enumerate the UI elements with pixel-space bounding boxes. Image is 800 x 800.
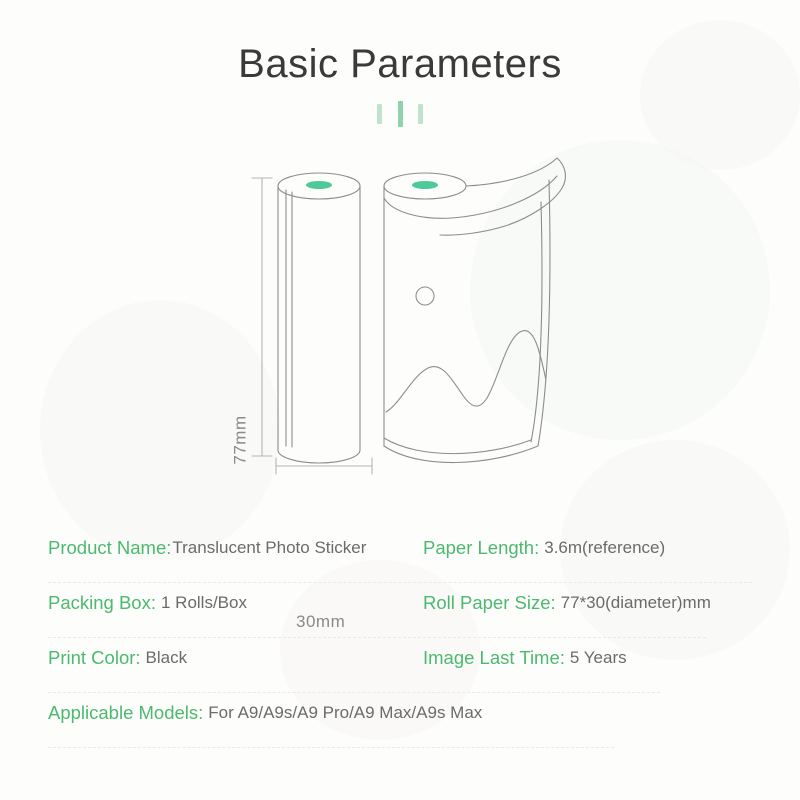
right-paper-roll (384, 158, 565, 463)
ornament-bar-center (398, 101, 403, 127)
ornament-bar-right (418, 104, 423, 124)
spec-row: Applicable Models: For A9/A9s/A9 Pro/A9 … (48, 693, 752, 748)
spec-label: Paper Length: (423, 537, 539, 559)
page-header: Basic Parameters (0, 0, 800, 127)
page-title: Basic Parameters (0, 0, 800, 87)
spec-label: Packing Box: (48, 592, 156, 614)
spec-label: Image Last Time: (423, 647, 565, 669)
spec-row: Print Color: Black Image Last Time: 5 Ye… (48, 638, 752, 693)
row-separator (48, 747, 614, 748)
spec-item-packing-box: Packing Box: 1 Rolls/Box (48, 583, 423, 623)
spec-value: 3.6m(reference) (544, 538, 665, 558)
spec-value: 5 Years (570, 648, 627, 668)
spec-row: Product Name: Translucent Photo Sticker … (48, 528, 752, 583)
height-dimension-label: 77mm (231, 415, 251, 464)
spec-label: Applicable Models: (48, 702, 203, 724)
spec-item-paper-length: Paper Length: 3.6m(reference) (423, 528, 752, 568)
spec-label: Roll Paper Size: (423, 592, 556, 614)
product-illustration: 77mm 30mm (0, 140, 800, 510)
left-paper-roll (278, 173, 360, 463)
spec-label: Print Color: (48, 647, 141, 669)
spec-label: Product Name: (48, 537, 171, 559)
spec-value: Black (146, 648, 188, 668)
spec-row: Packing Box: 1 Rolls/Box Roll Paper Size… (48, 583, 752, 638)
spec-item-image-last-time: Image Last Time: 5 Years (423, 638, 752, 678)
spec-value: For A9/A9s/A9 Pro/A9 Max/A9s Max (208, 703, 482, 723)
paper-rolls-drawing (0, 140, 800, 510)
spec-item-roll-paper-size: Roll Paper Size: 77*30(diameter)mm (423, 583, 752, 623)
specification-table: Product Name: Translucent Photo Sticker … (48, 528, 752, 748)
printed-sun-circle (416, 287, 434, 305)
roll-core-left (306, 181, 332, 189)
printed-mountain-artwork (386, 331, 546, 412)
roll-core-right (412, 181, 438, 189)
spec-value: Translucent Photo Sticker (172, 538, 366, 558)
spec-value: 1 Rolls/Box (161, 593, 247, 613)
height-dimension-line (252, 178, 272, 456)
spec-value: 77*30(diameter)mm (561, 593, 711, 613)
spec-item-print-color: Print Color: Black (48, 638, 423, 678)
width-dimension-line (276, 458, 372, 474)
spec-item-applicable-models: Applicable Models: For A9/A9s/A9 Pro/A9 … (48, 693, 752, 733)
ornament-bar-left (377, 104, 382, 124)
title-ornament (377, 101, 423, 127)
spec-item-product-name: Product Name: Translucent Photo Sticker (48, 528, 423, 568)
